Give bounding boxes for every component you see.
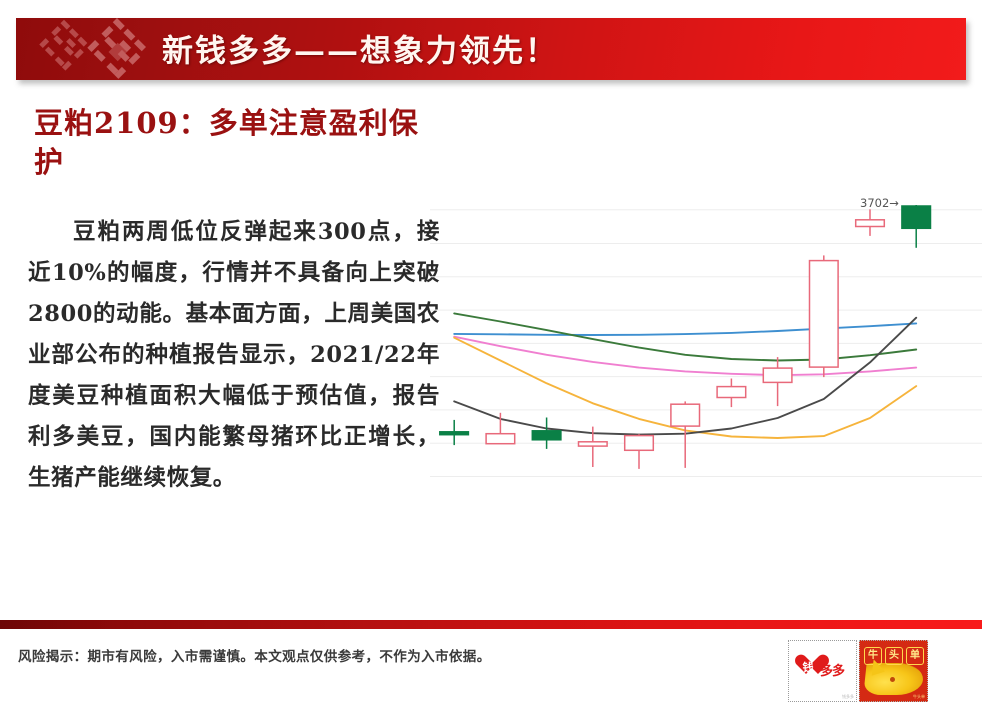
price-label: 3702→ xyxy=(860,196,899,210)
candlestick-chart: 3702→ xyxy=(430,178,982,602)
candle-7 xyxy=(717,379,746,408)
chart-canvas: 3702→ xyxy=(430,178,982,602)
candle-body xyxy=(671,404,700,426)
candle-body xyxy=(532,431,561,440)
logo-char-qian: 钱 xyxy=(799,659,817,675)
candle-9 xyxy=(810,255,839,377)
candle-11 xyxy=(902,205,931,248)
page-title: 豆粕2109：多单注意盈利保护 xyxy=(34,104,434,181)
risk-disclaimer: 风险揭示：期市有风险，入市需谨慎。本文观点仅供参考，不作为入市依据。 xyxy=(18,645,758,665)
logo-char-tou: 头 xyxy=(885,647,903,665)
candle-3 xyxy=(532,418,561,449)
body-paragraph: 豆粕两周低位反弹起来300点，接近10%的幅度，行情并不具备向上突破2800的动… xyxy=(28,212,440,499)
logo-caption-1: 钱多多 xyxy=(842,694,854,700)
ma-line-MA-pink xyxy=(454,337,916,376)
candle-5 xyxy=(625,434,654,469)
candle-body xyxy=(486,434,515,444)
candle-body xyxy=(579,442,608,446)
logo-qianduoduo: 钱 多多 钱多多 xyxy=(788,640,857,702)
logo-char-dan: 单 xyxy=(906,647,924,665)
candle-1 xyxy=(440,420,469,445)
header-banner: 新钱多多——想象力领先！ xyxy=(16,18,966,80)
header-title: 新钱多多——想象力领先！ xyxy=(162,26,558,71)
logo-niutoudan: 牛 头 单 牛头单 xyxy=(859,640,928,702)
candle-body xyxy=(810,261,839,368)
bull-eye-icon xyxy=(890,677,895,682)
candle-2 xyxy=(486,413,515,444)
slide-root: 新钱多多——想象力领先！ 豆粕2109：多单注意盈利保护 豆粕两周低位反弹起来3… xyxy=(0,0,982,720)
footer-divider xyxy=(0,620,982,629)
candle-body xyxy=(902,206,931,228)
logo-char-duoduo: 多多 xyxy=(820,660,844,679)
candle-body xyxy=(763,368,792,382)
chinese-lattice-diamond-pattern-icon xyxy=(22,18,172,80)
ma-line-MA-green xyxy=(454,313,916,360)
candle-body xyxy=(625,436,654,451)
logo-caption-2: 牛头单 xyxy=(913,694,925,700)
candle-body xyxy=(440,432,469,435)
candle-body xyxy=(717,387,746,398)
candle-8 xyxy=(763,357,792,406)
candle-10 xyxy=(856,209,885,236)
candle-body xyxy=(856,220,885,227)
logo-row: 钱 多多 钱多多 牛 头 单 牛头单 xyxy=(788,640,928,702)
